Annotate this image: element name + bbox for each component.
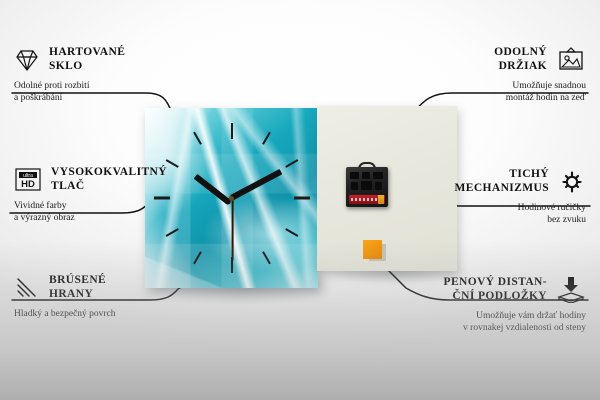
feat-desc-line1: Vividné farby xyxy=(14,201,214,213)
feat-title-line1: VYSOKOKVALITNÝ xyxy=(51,166,167,180)
callout-durable-holder: ODOLNÝ DRŽIAK Umožňuje snadnou montáž ho… xyxy=(386,46,586,104)
feat-title-line2: ČNÍ PODLOŽKY xyxy=(444,290,547,304)
polished-edges-icon xyxy=(14,276,40,300)
quartz-mechanism xyxy=(346,167,388,207)
feat-desc-line2: v rovnakej vzdialenosti od steny xyxy=(361,323,586,335)
feat-desc-line1: Umožňuje snadnou xyxy=(386,81,586,93)
callout-tempered-glass: HARTOVANÉ SKLO Odolné proti rozbití a po… xyxy=(14,46,214,104)
feat-desc-line1: Hladký a bezpečný povrch xyxy=(14,309,214,321)
callout-high-quality-print: ultra HD VYSOKOKVALITNÝ TLAČ Vividné far… xyxy=(14,166,214,224)
mechanism-body xyxy=(346,167,388,207)
svg-text:HD: HD xyxy=(21,179,35,190)
feat-title-line1: HARTOVANÉ xyxy=(49,46,125,60)
product-infographic: HARTOVANÉ SKLO Odolné proti rozbití a po… xyxy=(0,0,600,400)
ultra-hd-icon: ultra HD xyxy=(14,167,42,192)
feat-desc-line2: a výrazný obraz xyxy=(14,213,214,225)
feat-title-line1: ODOLNÝ xyxy=(494,46,547,60)
feat-title-line2: SKLO xyxy=(49,60,125,74)
feat-desc-line1: Hodinové ručičky xyxy=(386,203,586,215)
clock-tick xyxy=(231,123,233,139)
feat-title-line1: BRÚSENÉ xyxy=(49,274,106,288)
feat-title-line2: DRŽIAK xyxy=(494,60,547,74)
feat-title-line1: TICHÝ xyxy=(455,168,550,182)
foam-pad-arrow-icon xyxy=(556,276,586,303)
mechanism-battery xyxy=(349,195,385,204)
clock-center-pin xyxy=(229,196,234,201)
callout-foam-spacers: PENOVÝ DISTAN- ČNÍ PODLOŽKY Umožňuje vám… xyxy=(361,276,586,334)
feat-desc-line2: montáž hodin na zeď xyxy=(386,93,586,105)
feat-title-line2: HRANY xyxy=(49,288,106,302)
feat-title-line2: MECHANIZMUS xyxy=(455,182,550,196)
feat-desc-line2: bez zvuku xyxy=(386,215,586,227)
callout-polished-edges: BRÚSENÉ HRANY Hladký a bezpečný povrch xyxy=(14,274,214,321)
gear-icon xyxy=(558,169,586,195)
feat-title-line2: TLAČ xyxy=(51,180,167,194)
feat-desc-line1: Umožňuje vám držať hodiny xyxy=(361,311,586,323)
feat-desc-line1: Odolné proti rozbití xyxy=(14,81,214,93)
clock-tick xyxy=(294,197,310,200)
wall-mount-picture-icon xyxy=(556,47,586,72)
foam-distance-pad xyxy=(363,240,382,259)
diamond-icon xyxy=(14,48,40,72)
clock-second-hand xyxy=(232,199,234,261)
feat-desc-line2: a poškrábání xyxy=(14,93,214,105)
callout-silent-mechanism: TICHÝ MECHANIZMUS Hodinové ručičky bez z… xyxy=(386,168,586,226)
feat-title-line1: PENOVÝ DISTAN- xyxy=(444,276,547,290)
